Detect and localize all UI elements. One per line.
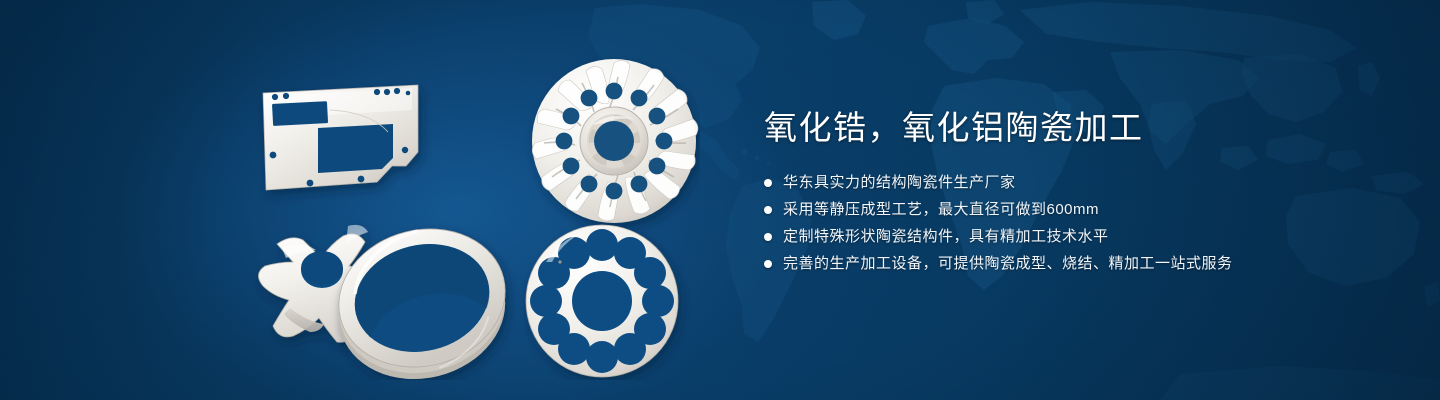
feature-text: 完善的生产加工设备，可提供陶瓷成型、烧结、精加工一站式服务 [783,253,1233,275]
promo-banner: 氧化锆，氧化铝陶瓷加工 华东具实力的结构陶瓷件生产厂家 采用等静压成型工艺，最大… [0,0,1440,400]
bullet-dot-icon [764,233,772,241]
product-image-cluster [230,40,700,380]
feature-list: 华东具实力的结构陶瓷件生产厂家 采用等静压成型工艺，最大直径可做到600mm 定… [764,172,1384,275]
banner-copy: 氧化锆，氧化铝陶瓷加工 华东具实力的结构陶瓷件生产厂家 采用等静压成型工艺，最大… [764,108,1384,280]
bullet-dot-icon [764,206,772,214]
feature-text: 华东具实力的结构陶瓷件生产厂家 [783,172,1016,194]
bullet-dot-icon [764,179,772,187]
product-ceramic-perforated-disc [526,225,678,377]
feature-text: 定制特殊形状陶瓷结构件，具有精加工技术水平 [783,226,1109,248]
page-title: 氧化锆，氧化铝陶瓷加工 [764,108,1384,148]
feature-text: 采用等静压成型工艺，最大直径可做到600mm [783,199,1099,221]
list-item: 采用等静压成型工艺，最大直径可做到600mm [764,199,1384,221]
product-ceramic-mounting-plate [263,85,418,190]
list-item: 完善的生产加工设备，可提供陶瓷成型、烧结、精加工一站式服务 [764,253,1384,275]
list-item: 定制特殊形状陶瓷结构件，具有精加工技术水平 [764,226,1384,248]
list-item: 华东具实力的结构陶瓷件生产厂家 [764,172,1384,194]
product-ceramic-impeller-disc [532,59,698,223]
bullet-dot-icon [764,260,772,268]
